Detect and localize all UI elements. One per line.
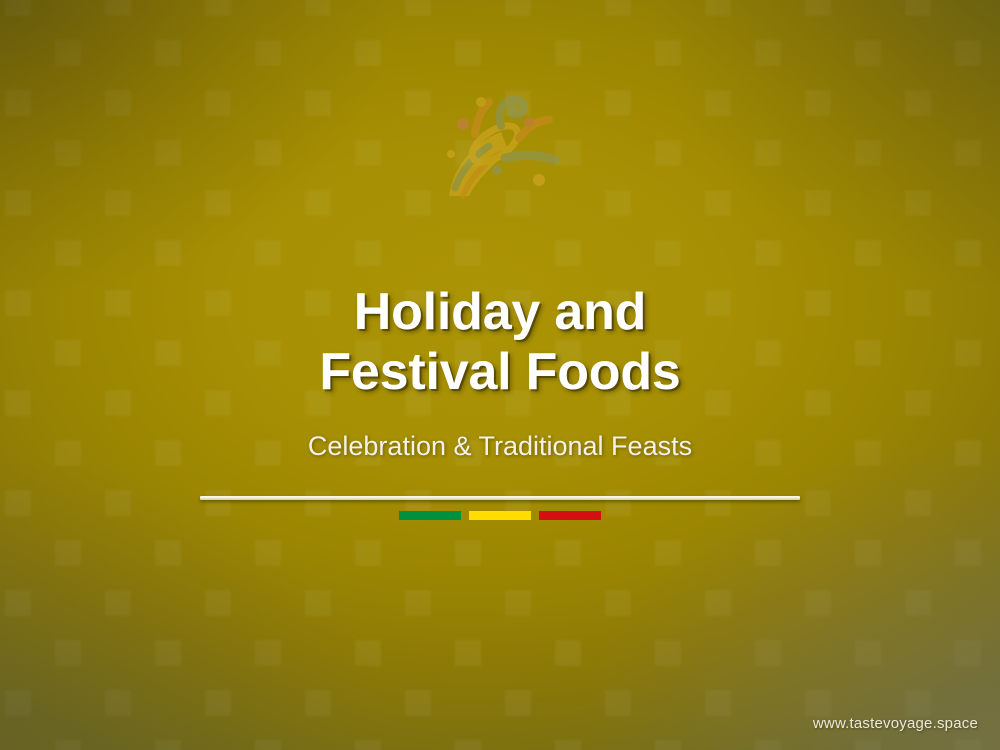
page-title-line-2: Festival Foods: [319, 343, 680, 401]
footer-url: www.tastevoyage.space: [813, 715, 978, 732]
accent-bar-red: [539, 511, 601, 520]
page-title: Holiday and Festival Foods: [319, 282, 680, 402]
accent-bar-yellow: [469, 511, 531, 520]
accent-bar-green: [399, 511, 461, 520]
party-popper-icon: [435, 92, 565, 210]
page-title-line-1: Holiday and: [354, 283, 647, 341]
page-subtitle: Celebration & Traditional Feasts: [308, 430, 692, 462]
title-slide: Holiday and Festival Foods Celebration &…: [0, 0, 1000, 750]
slide-content: Holiday and Festival Foods Celebration &…: [0, 0, 1000, 750]
accent-bar-group: [399, 511, 601, 520]
divider-rule: [200, 496, 800, 500]
